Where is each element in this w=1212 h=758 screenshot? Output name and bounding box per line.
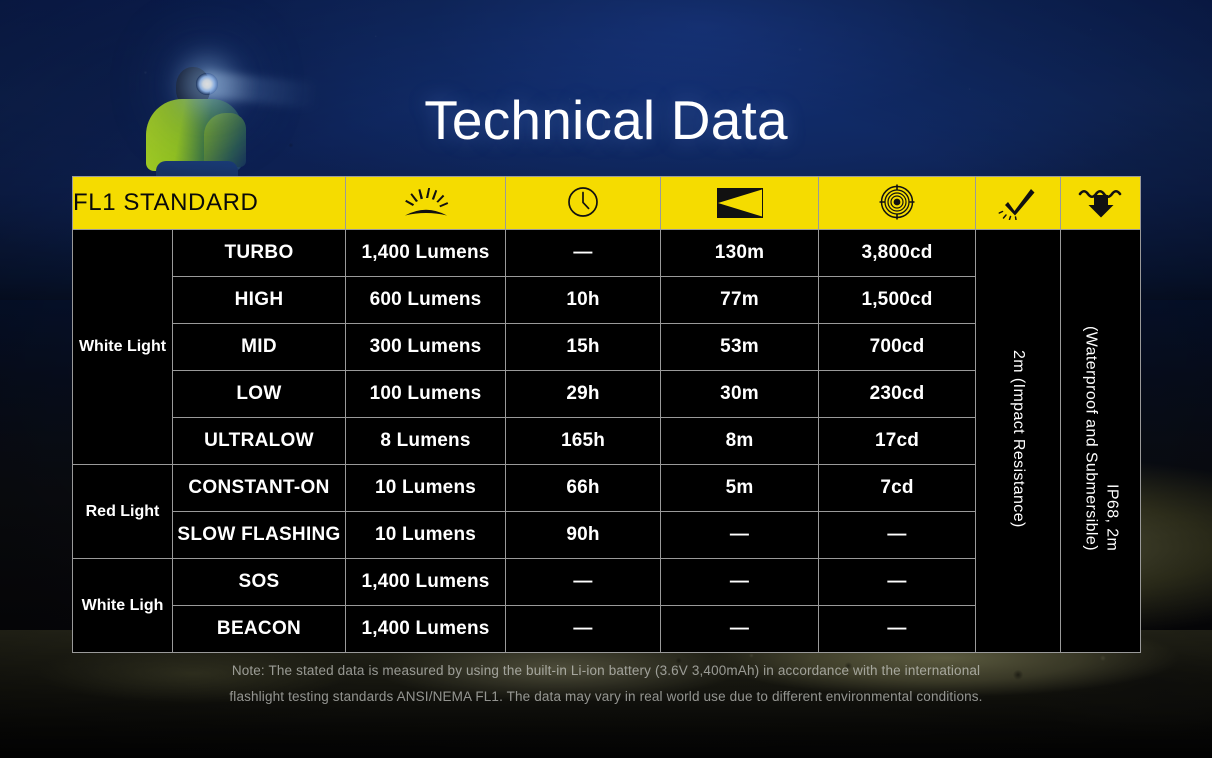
distance-value: 77m (661, 277, 819, 324)
distance-value: 8m (661, 418, 819, 465)
lumens-value: 1,400 Lumens (346, 230, 506, 277)
lumens-value: 600 Lumens (346, 277, 506, 324)
intensity-value: — (819, 559, 976, 606)
distance-value: 53m (661, 324, 819, 371)
runtime-value: 29h (506, 371, 661, 418)
clock-icon (566, 182, 600, 222)
intensity-value: 700cd (819, 324, 976, 371)
peak-beam-intensity-icon (879, 182, 915, 222)
distance-value: — (661, 606, 819, 653)
waterproof-line-1: (Waterproof and Submersible) (1080, 326, 1101, 551)
header-beam-distance-cell (661, 177, 819, 230)
mode-name: LOW (173, 371, 346, 418)
runtime-value: 165h (506, 418, 661, 465)
runtime-value: — (506, 559, 661, 606)
lumens-value: 1,400 Lumens (346, 606, 506, 653)
waterproof-icon (1078, 182, 1124, 222)
group-label-white-light: White Light (73, 230, 173, 465)
group-label-white-light-modes: White Ligh (73, 559, 173, 653)
distance-value: — (661, 512, 819, 559)
lumens-value: 8 Lumens (346, 418, 506, 465)
mode-name: BEACON (173, 606, 346, 653)
mode-name: TURBO (173, 230, 346, 277)
lumens-value: 10 Lumens (346, 465, 506, 512)
header-impact-resistance-cell (976, 177, 1061, 230)
page-title: Technical Data (0, 88, 1212, 152)
distance-value: — (661, 559, 819, 606)
intensity-value: 17cd (819, 418, 976, 465)
technical-data-table: FL1 STANDARD (72, 176, 1141, 653)
mode-name: CONSTANT-ON (173, 465, 346, 512)
impact-resistance-icon (998, 182, 1038, 222)
technical-data-table-wrap: FL1 STANDARD (72, 176, 1140, 653)
header-peak-intensity-cell (819, 177, 976, 230)
intensity-value: — (819, 606, 976, 653)
header-lumens-cell (346, 177, 506, 230)
footnote-line-2: flashlight testing standards ANSI/NEMA F… (0, 684, 1212, 710)
runtime-value: — (506, 230, 661, 277)
intensity-value: 3,800cd (819, 230, 976, 277)
runtime-value: 10h (506, 277, 661, 324)
impact-resistance-value: 2m (Impact Resistance) (1007, 350, 1029, 528)
table-header-row: FL1 STANDARD (73, 177, 1141, 230)
runtime-value: — (506, 606, 661, 653)
waterproof-line-2: IP68, 2m (1101, 484, 1122, 551)
header-waterproof-cell (1061, 177, 1141, 230)
intensity-value: 1,500cd (819, 277, 976, 324)
footnote-line-1: Note: The stated data is measured by usi… (0, 658, 1212, 684)
runtime-value: 15h (506, 324, 661, 371)
lumens-sunburst-icon (397, 182, 455, 222)
intensity-value: 7cd (819, 465, 976, 512)
lumens-value: 300 Lumens (346, 324, 506, 371)
lumens-value: 10 Lumens (346, 512, 506, 559)
mode-name: SOS (173, 559, 346, 606)
header-runtime-cell (506, 177, 661, 230)
group-label-red-light: Red Light (73, 465, 173, 559)
mode-name: HIGH (173, 277, 346, 324)
lumens-value: 1,400 Lumens (346, 559, 506, 606)
beam-distance-icon (716, 183, 764, 223)
intensity-value: — (819, 512, 976, 559)
runtime-value: 66h (506, 465, 661, 512)
distance-value: 130m (661, 230, 819, 277)
header-fl1-standard: FL1 STANDARD (73, 177, 346, 230)
distance-value: 5m (661, 465, 819, 512)
mode-name: SLOW FLASHING (173, 512, 346, 559)
mode-name: MID (173, 324, 346, 371)
runtime-value: 90h (506, 512, 661, 559)
waterproof-cell: (Waterproof and Submersible)IP68, 2m (1061, 230, 1141, 653)
mode-name: ULTRALOW (173, 418, 346, 465)
distance-value: 30m (661, 371, 819, 418)
impact-resistance-cell: 2m (Impact Resistance) (976, 230, 1061, 653)
lumens-value: 100 Lumens (346, 371, 506, 418)
intensity-value: 230cd (819, 371, 976, 418)
table-row: White Light TURBO 1,400 Lumens — 130m 3,… (73, 230, 1141, 277)
footnote: Note: The stated data is measured by usi… (0, 658, 1212, 709)
